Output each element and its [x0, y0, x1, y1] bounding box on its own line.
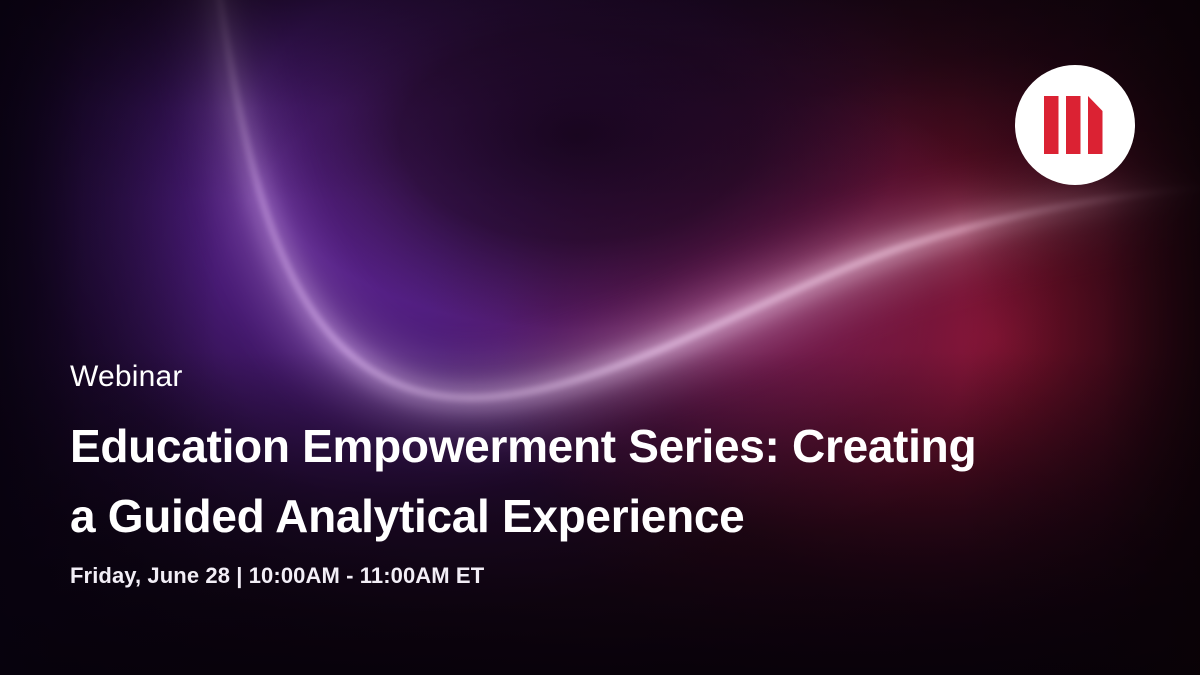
headline-line-1: Education Empowerment Series: Creating [70, 411, 1080, 481]
eyebrow-label: Webinar [70, 360, 1090, 393]
headline-line-2: a Guided Analytical Experience [70, 481, 1080, 551]
webinar-promo-banner: Webinar Education Empowerment Series: Cr… [0, 0, 1200, 675]
microstrategy-logo-badge [1015, 65, 1135, 185]
event-datetime: Friday, June 28 | 10:00AM - 11:00AM ET [70, 563, 1090, 589]
page-title: Education Empowerment Series: Creating a… [70, 411, 1080, 551]
microstrategy-logo-icon [1044, 96, 1106, 154]
banner-content: Webinar Education Empowerment Series: Cr… [70, 360, 1090, 589]
